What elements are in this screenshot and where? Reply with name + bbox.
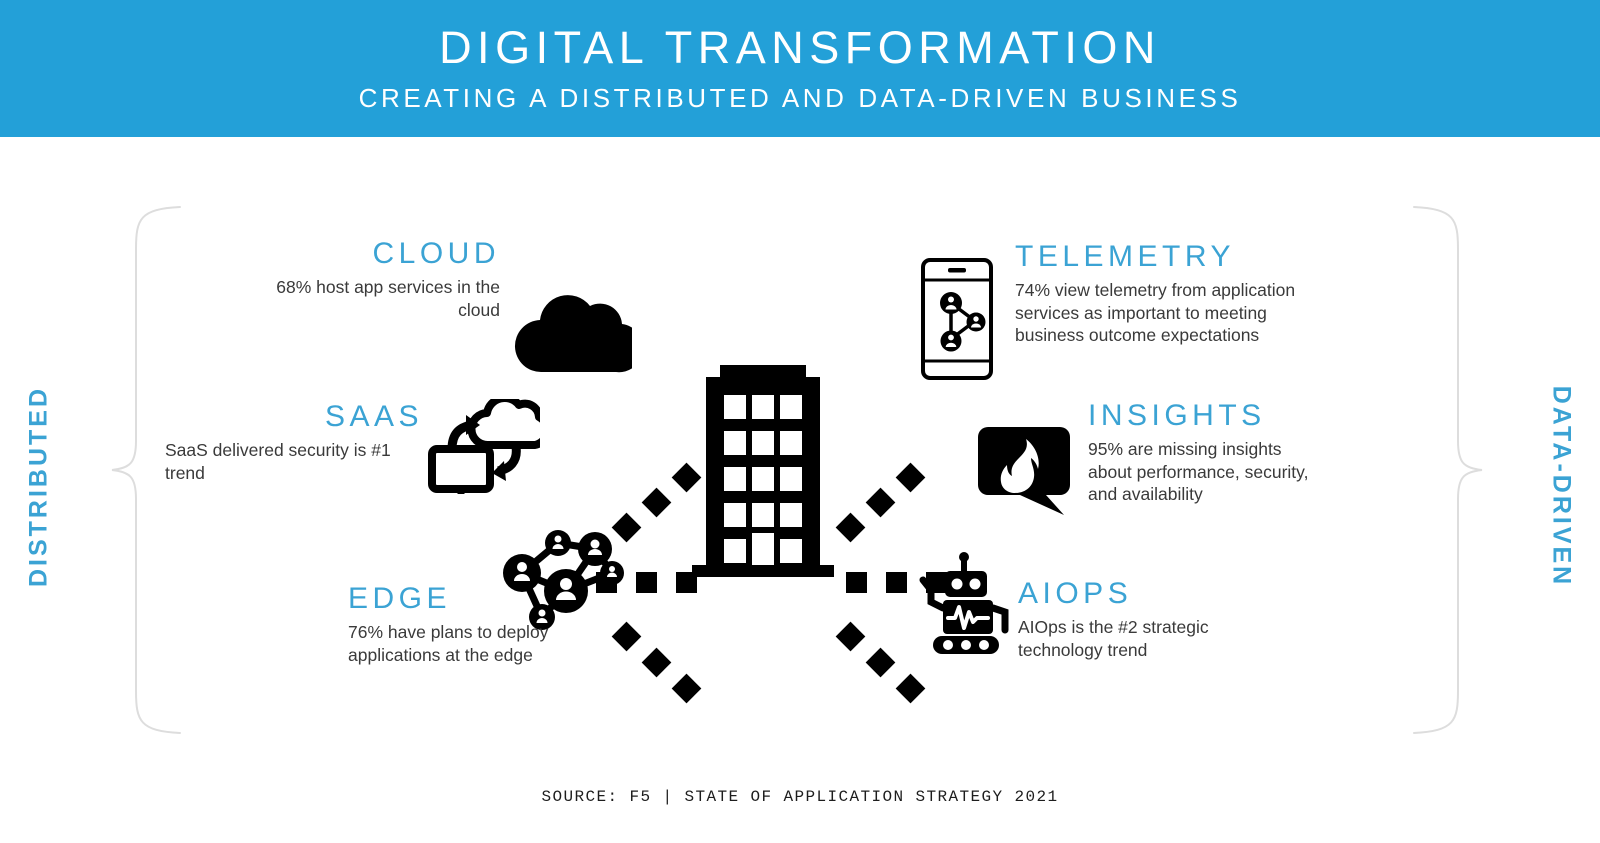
block-insights: INSIGHTS 95% are missing insights about … bbox=[1088, 399, 1328, 506]
page-title: DIGITAL TRANSFORMATION bbox=[439, 24, 1161, 71]
robot-icon bbox=[917, 552, 1013, 661]
saas-cloud-sync-icon bbox=[428, 399, 540, 499]
block-edge: EDGE 76% have plans to deploy applicatio… bbox=[348, 582, 610, 666]
mobile-telemetry-icon bbox=[920, 257, 994, 386]
office-building-icon bbox=[688, 337, 838, 582]
block-cloud: CLOUD 68% host app services in the cloud bbox=[232, 237, 500, 321]
cloud-icon bbox=[512, 292, 632, 382]
block-telemetry-title: TELEMETRY bbox=[1015, 240, 1305, 273]
header-banner: DIGITAL TRANSFORMATION CREATING A DISTRI… bbox=[0, 0, 1600, 137]
insights-flame-bubble-icon bbox=[978, 425, 1070, 520]
block-insights-body: 95% are missing insights about performan… bbox=[1088, 438, 1328, 506]
block-telemetry: TELEMETRY 74% view telemetry from applic… bbox=[1015, 240, 1305, 347]
block-telemetry-body: 74% view telemetry from application serv… bbox=[1015, 279, 1305, 347]
block-aiops: AIOPS AIOps is the #2 strategic technolo… bbox=[1018, 577, 1258, 661]
block-edge-body: 76% have plans to deploy applications at… bbox=[348, 621, 610, 666]
block-saas: SAAS SaaS delivered security is #1 trend bbox=[165, 400, 423, 484]
infographic-stage: CLOUD 68% host app services in the cloud… bbox=[0, 137, 1600, 843]
block-aiops-body: AIOps is the #2 strategic technology tre… bbox=[1018, 616, 1258, 661]
page-subtitle: CREATING A DISTRIBUTED AND DATA-DRIVEN B… bbox=[359, 85, 1242, 112]
block-cloud-title: CLOUD bbox=[232, 237, 500, 270]
block-insights-title: INSIGHTS bbox=[1088, 399, 1328, 432]
block-cloud-body: 68% host app services in the cloud bbox=[232, 276, 500, 321]
block-saas-body: SaaS delivered security is #1 trend bbox=[165, 439, 423, 484]
block-edge-title: EDGE bbox=[348, 582, 610, 615]
source-footnote: SOURCE: F5 | STATE OF APPLICATION STRATE… bbox=[0, 788, 1600, 806]
block-aiops-title: AIOPS bbox=[1018, 577, 1258, 610]
block-saas-title: SAAS bbox=[165, 400, 423, 433]
